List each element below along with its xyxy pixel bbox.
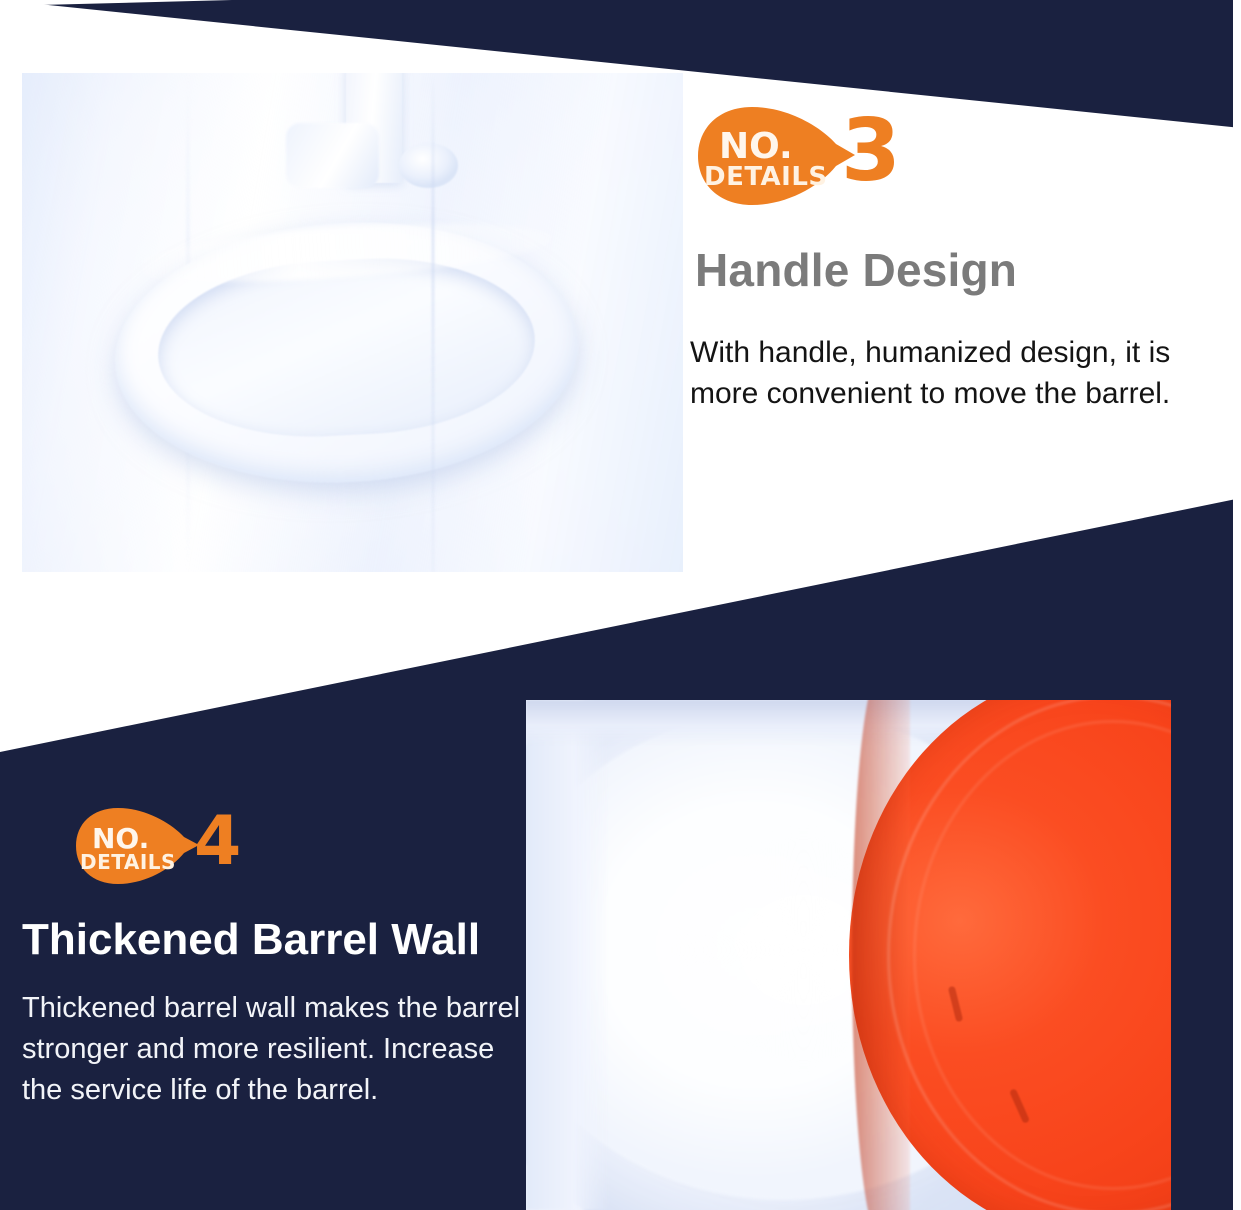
badge-number-4: 4 bbox=[194, 808, 241, 876]
handle-lug bbox=[399, 143, 458, 188]
product-detail-infographic: NO. DETAILS 3 Handle Design With handle,… bbox=[0, 0, 1241, 1210]
body-handle-design: With handle, humanized design, it is mor… bbox=[690, 332, 1218, 415]
photo-thickened-barrel-wall bbox=[526, 700, 1171, 1210]
heading-thickened-barrel-wall: Thickened Barrel Wall bbox=[22, 915, 480, 965]
svg-text:NO.: NO. bbox=[719, 126, 793, 167]
bucket-spout-base bbox=[286, 123, 379, 188]
svg-text:DETAILS: DETAILS bbox=[704, 162, 828, 192]
svg-text:DETAILS: DETAILS bbox=[80, 850, 176, 874]
badge-detail-3: NO. DETAILS 3 bbox=[695, 104, 895, 208]
badge-number-3: 3 bbox=[841, 108, 901, 194]
badge-teardrop-icon: NO. DETAILS bbox=[74, 806, 274, 886]
photo-handle-design bbox=[22, 73, 683, 572]
barrel-wall-left-shade bbox=[526, 700, 610, 1210]
body-thickened-barrel-wall: Thickened barrel wall makes the barrel s… bbox=[22, 988, 538, 1112]
heading-handle-design: Handle Design bbox=[695, 243, 1017, 297]
badge-detail-4: NO. DETAILS 4 bbox=[74, 806, 274, 886]
bucket-seam-right bbox=[432, 73, 434, 572]
